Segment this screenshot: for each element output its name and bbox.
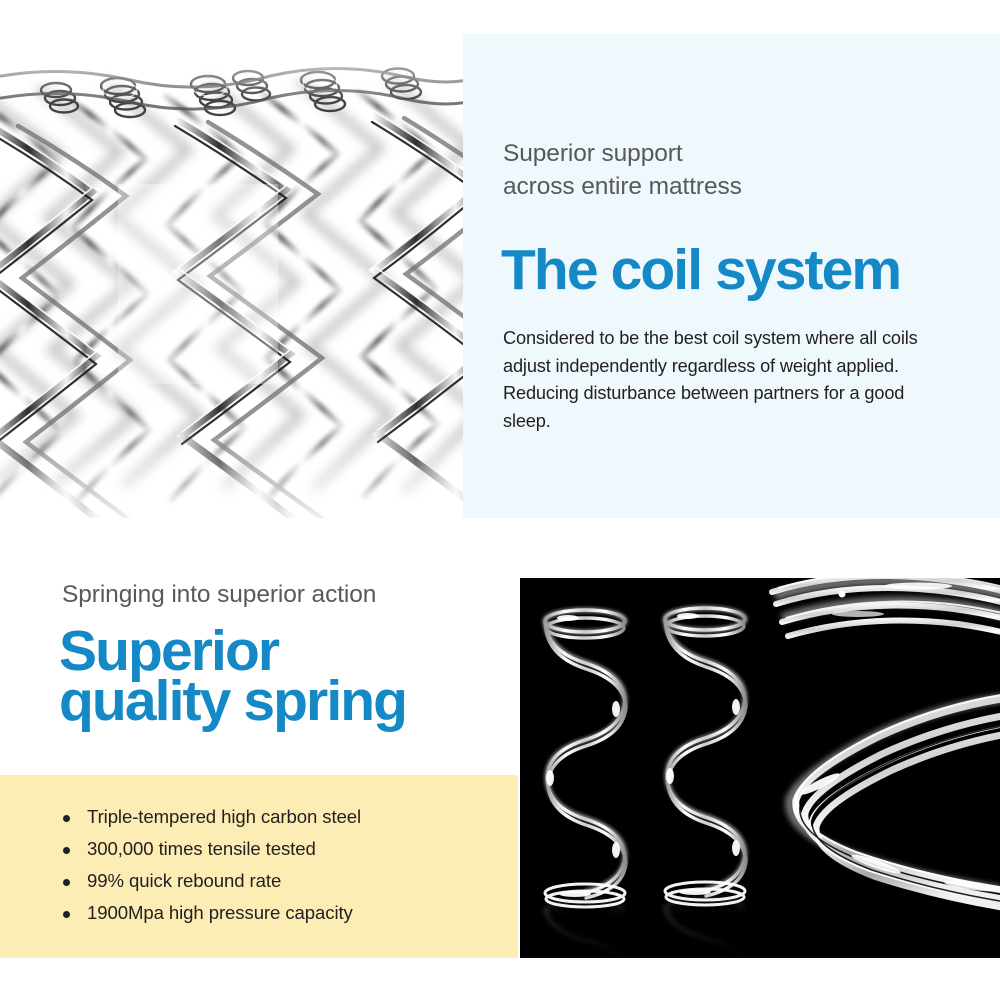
chrome-spring-illustration <box>520 578 1000 958</box>
bottom-section: Springing into superior action Superior … <box>0 518 1000 1000</box>
list-item: 300,000 times tensile tested <box>62 840 361 859</box>
feature-text: Triple-tempered high carbon steel <box>87 806 361 827</box>
top-section: Superior support across entire mattress … <box>0 34 1000 518</box>
coil-spring-macro-photo <box>0 34 463 518</box>
bottom-eyebrow: Springing into superior action <box>62 580 376 609</box>
feature-text: 1900Mpa high pressure capacity <box>87 902 353 923</box>
top-headline: The coil system <box>501 242 900 299</box>
chrome-spring-photo <box>520 578 1000 958</box>
top-eyebrow-line2: across entire mattress <box>503 173 742 200</box>
feature-list: Triple-tempered high carbon steel 300,00… <box>62 808 361 936</box>
feature-text: 300,000 times tensile tested <box>87 838 316 859</box>
top-body-copy: Considered to be the best coil system wh… <box>503 325 923 436</box>
infographic-page: Superior support across entire mattress … <box>0 0 1000 1000</box>
list-item: Triple-tempered high carbon steel <box>62 808 361 827</box>
bottom-headline-line2: quality spring <box>59 669 406 733</box>
spring-quality-copy-panel: Springing into superior action Superior … <box>0 518 518 958</box>
coil-system-copy-panel: Superior support across entire mattress … <box>463 34 1000 518</box>
features-yellow-band: Triple-tempered high carbon steel 300,00… <box>0 775 518 958</box>
bullet-dot-icon <box>63 815 70 822</box>
list-item: 99% quick rebound rate <box>62 872 361 891</box>
top-eyebrow: Superior support across entire mattress <box>503 138 953 204</box>
bullet-dot-icon <box>63 911 70 918</box>
coil-spring-macro-illustration <box>0 34 463 518</box>
bullet-dot-icon <box>63 879 70 886</box>
bullet-dot-icon <box>63 847 70 854</box>
top-eyebrow-line1: Superior support <box>503 140 683 167</box>
feature-text: 99% quick rebound rate <box>87 870 281 891</box>
bottom-headline: Superior quality spring <box>59 626 406 726</box>
list-item: 1900Mpa high pressure capacity <box>62 904 361 923</box>
